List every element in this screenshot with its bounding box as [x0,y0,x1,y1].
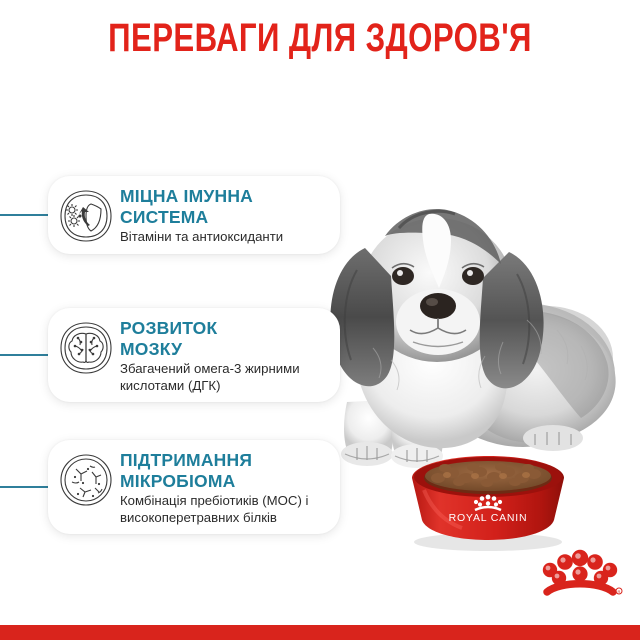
connector-line-3 [0,486,52,488]
benefit-heading: ПІДТРИМАННЯ МІКРОБІОМА [120,450,332,492]
benefit-text-microbiome: ПІДТРИМАННЯ МІКРОБІОМА Комбінація пребіо… [120,450,332,526]
benefit-subtitle: Вітаміни та антиоксиданти [120,229,332,246]
benefit-heading: МІЦНА ІМУННА СИСТЕМА [120,186,332,228]
benefit-text-brain: РОЗВИТОК МОЗКУ Збагачений омега-3 жирним… [120,318,332,394]
benefit-card-brain: РОЗВИТОК МОЗКУ Збагачений омега-3 жирним… [48,308,340,402]
brain-icon [58,320,114,376]
page-title: ПЕРЕВАГИ ДЛЯ ЗДОРОВ'Я [70,16,569,60]
royal-canin-food-bowl: ROYAL CANIN [402,448,574,552]
royal-canin-crown-logo: R [534,544,626,602]
benefit-subtitle: Збагачений омега-3 жирними кислотами (ДГ… [120,361,332,394]
benefit-card-microbiome: ПІДТРИМАННЯ МІКРОБІОМА Комбінація пребіо… [48,440,340,534]
shield-immunity-icon [58,188,114,244]
microbiome-bacteria-icon [58,452,114,508]
svg-text:ROYAL CANIN: ROYAL CANIN [449,512,528,524]
bottom-brand-bar [0,625,640,640]
benefit-heading: РОЗВИТОК МОЗКУ [120,318,332,360]
promo-banner: ПЕРЕВАГИ ДЛЯ ЗДОРОВ'Я [0,0,640,640]
benefit-text-immunity: МІЦНА ІМУННА СИСТЕМА Вітаміни та антиокс… [120,186,332,246]
connector-line-2 [0,354,52,356]
benefit-subtitle: Комбінація пребіотиків (МОС) і високопер… [120,493,332,526]
connector-line-1 [0,214,52,216]
svg-text:R: R [618,589,621,594]
benefit-card-immunity: МІЦНА ІМУННА СИСТЕМА Вітаміни та антиокс… [48,176,340,254]
